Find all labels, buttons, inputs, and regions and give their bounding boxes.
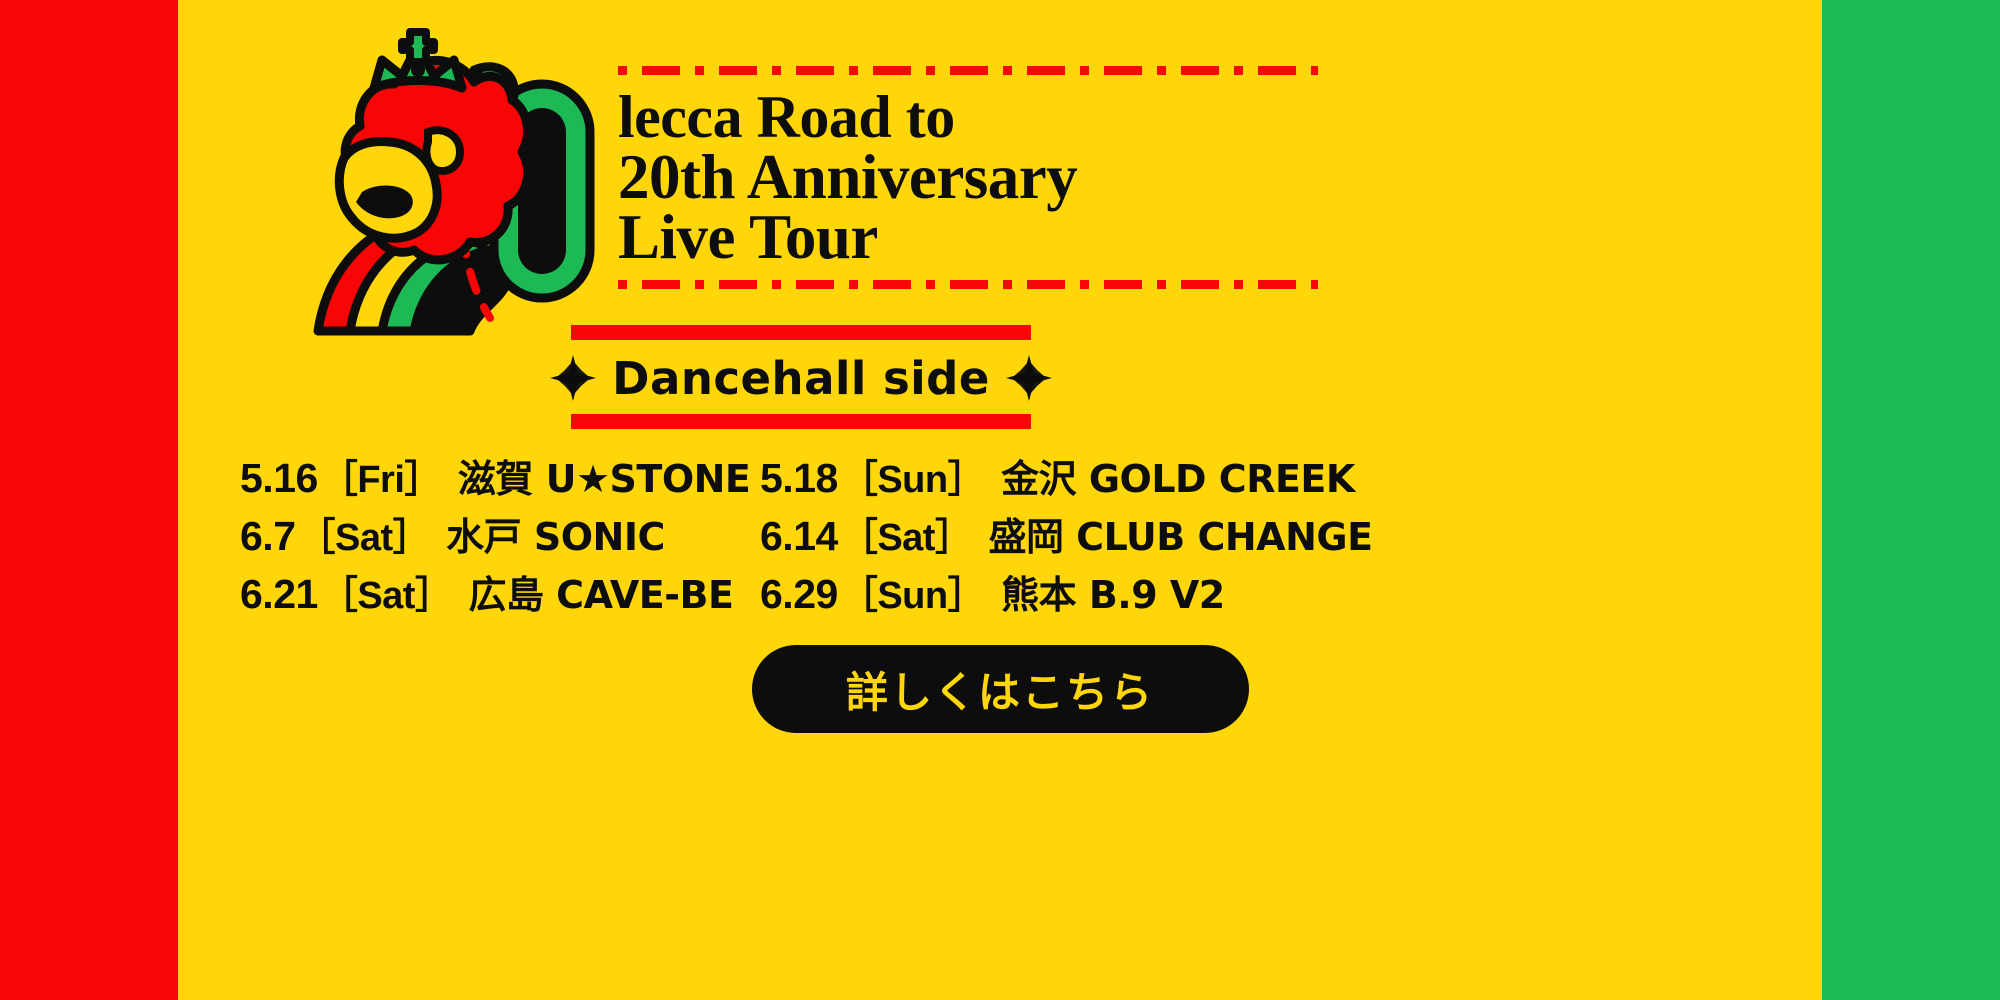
tour-date-item[interactable]: 5.16 ［Fri］ 滋賀 U★STONE [240,448,760,503]
venue-name: 熊本 B.9 V2 [1001,564,1225,619]
details-button[interactable]: 詳しくはこちら [752,645,1249,733]
venue-name: 広島 CAVE-BE [468,564,733,619]
page-title: lecca Road to 20th Anniversary Live Tour [618,89,1318,268]
date-value: 6.29 [760,571,838,618]
date-value: 5.16 [240,455,318,502]
title-line-3: Live Tour [618,207,1318,267]
subtitle-text: Dancehall side [612,352,990,405]
day-of-week: ［Sat］ [840,506,973,561]
day-of-week: ［Fri］ [320,448,442,503]
tour-date-item[interactable]: 5.18 ［Sun］ 金沢 GOLD CREEK [760,448,1340,503]
tour-date-item[interactable]: 6.7 ［Sat］ 水戸 SONIC [240,506,760,561]
table-row: 6.7 ［Sat］ 水戸 SONIC 6.14 ［Sat］ 盛岡 CLUB CH… [240,506,1760,564]
tour-date-list: 5.16 ［Fri］ 滋賀 U★STONE 5.18 ［Sun］ 金沢 GOLD… [240,448,1760,622]
dashed-rule-top [618,66,1318,75]
cta-container: 詳しくはこちら [178,645,1822,733]
subtitle-band: Dancehall side [571,325,1031,429]
subtitle-bar-top [571,325,1031,340]
date-value: 6.14 [760,513,838,560]
day-of-week: ［Sat］ [298,506,431,561]
day-of-week: ［Sun］ [840,448,985,503]
right-green-stripe [1822,0,2000,1000]
venue-name: 金沢 GOLD CREEK [1001,448,1355,503]
date-value: 6.7 [240,513,296,560]
title-line-1: lecca Road to [618,89,1318,147]
tour-date-item[interactable]: 6.14 ［Sat］ 盛岡 CLUB CHANGE [760,506,1340,561]
title-line-2: 20th Anniversary [618,147,1318,207]
left-red-stripe [0,0,178,1000]
banner-stage: lecca Road to 20th Anniversary Live Tour… [0,0,2000,1000]
tour-date-item[interactable]: 6.29 ［Sun］ 熊本 B.9 V2 [760,564,1340,619]
tour-date-item[interactable]: 6.21 ［Sat］ 広島 CAVE-BE [240,564,760,619]
sparkle-icon [550,355,596,401]
venue-name: 滋賀 U★STONE [458,448,751,503]
lion-of-judah-20-logo [278,26,618,336]
date-value: 6.21 [240,571,318,618]
day-of-week: ［Sat］ [320,564,453,619]
dashed-rule-bottom [618,280,1318,289]
table-row: 5.16 ［Fri］ 滋賀 U★STONE 5.18 ［Sun］ 金沢 GOLD… [240,448,1760,506]
venue-name: 盛岡 CLUB CHANGE [988,506,1372,561]
table-row: 6.21 ［Sat］ 広島 CAVE-BE 6.29 ［Sun］ 熊本 B.9 … [240,564,1760,622]
header-zone: lecca Road to 20th Anniversary Live Tour [178,18,1822,336]
banner-panel: lecca Road to 20th Anniversary Live Tour… [178,0,1822,1000]
day-of-week: ［Sun］ [840,564,985,619]
venue-name: 水戸 SONIC [446,506,665,561]
sparkle-icon [1006,355,1052,401]
title-block: lecca Road to 20th Anniversary Live Tour [618,66,1318,289]
date-value: 5.18 [760,455,838,502]
subtitle-bar-bottom [571,414,1031,429]
